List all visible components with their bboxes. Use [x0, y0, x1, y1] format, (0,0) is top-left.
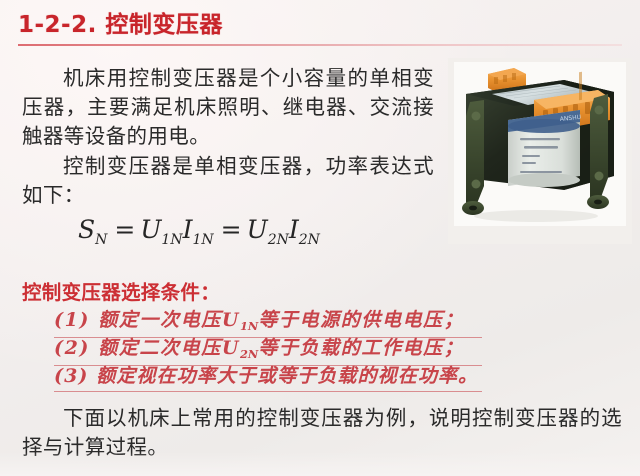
page-title: 1-2-2. 控制变压器 [18, 10, 622, 40]
slide-canvas: 1-2-2. 控制变压器 机床用控制变压器是个小容量的单相变压器，主要满足机床照… [0, 0, 640, 476]
condition-3-prefix: (3) 额定视在功率大于或等于负载的视在功率。 [54, 365, 478, 387]
paragraph-formula-lead: 控制变压器是单相变压器，功率表达式如下： [22, 152, 434, 210]
formula-term1-symbol: U [140, 215, 161, 244]
condition-1-sub: 1N [240, 319, 258, 333]
power-formula: SN=U1NI1N=U2NI2N [78, 215, 320, 244]
title-block: 1-2-2. 控制变压器 [18, 10, 622, 46]
formula-lhs-symbol: S [78, 215, 95, 244]
condition-2-sub: 2N [240, 347, 258, 361]
condition-2-symbol: U [222, 337, 240, 359]
transformer-photo: ANSHU [448, 58, 632, 244]
coil-label: ANSHU [508, 110, 581, 187]
formula-term2-sub: 1N [192, 232, 213, 248]
formula-term4-sub: 2N [299, 232, 320, 248]
formula-lhs-sub: N [95, 232, 107, 248]
formula-term2-symbol: I [183, 215, 193, 244]
condition-2-suffix: 等于负载的工作电压； [258, 337, 464, 359]
formula-equals-2: = [221, 215, 242, 244]
formula-term4-symbol: I [289, 215, 299, 244]
formula-equals-1: = [114, 215, 135, 244]
condition-1-prefix: (1) 额定一次电压 [54, 309, 222, 331]
condition-1-symbol: U [222, 309, 240, 331]
condition-1-suffix: 等于电源的供电电压； [258, 309, 464, 331]
condition-item-3: (3) 额定视在功率大于或等于负载的视在功率。 [54, 363, 482, 392]
condition-item-1: (1) 额定一次电压U1N等于电源的供电电压； [54, 307, 482, 338]
condition-2-prefix: (2) 额定二次电压 [54, 337, 222, 359]
bottom-fade [0, 452, 640, 476]
condition-item-2: (2) 额定二次电压U2N等于负载的工作电压； [54, 335, 482, 366]
formula-term1-sub: 1N [161, 232, 182, 248]
formula-term3-symbol: U [247, 215, 268, 244]
title-divider [18, 44, 622, 46]
conditions-heading: 控制变压器选择条件： [22, 280, 220, 305]
formula-term3-sub: 2N [268, 232, 289, 248]
transformer-illustration: ANSHU [448, 58, 632, 244]
paragraph-intro: 机床用控制变压器是个小容量的单相变压器，主要满足机床照明、继电器、交流接触器等设… [22, 64, 434, 151]
